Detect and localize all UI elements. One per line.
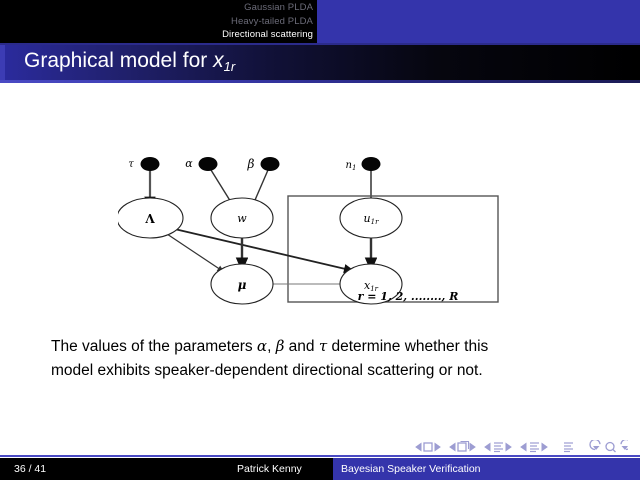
tau-dot-node xyxy=(141,157,160,171)
title-bar: Graphical model for x1r xyxy=(0,45,640,80)
title-bar-edge xyxy=(0,45,5,80)
graphical-model-svg: τ α β n1 Λ w u1r μ x1r xyxy=(118,143,518,318)
prev-slide-icon xyxy=(416,444,421,451)
beamer-navigation-symbols[interactable] xyxy=(412,440,628,454)
nav-item-directional-scattering[interactable]: Directional scattering xyxy=(0,28,313,42)
body-line2: model exhibits speaker-dependent directi… xyxy=(51,362,483,379)
slide-icon xyxy=(424,443,432,451)
prev-section-icon xyxy=(521,444,526,451)
prev-subsection-icon xyxy=(485,444,490,451)
page-title: Graphical model for x1r xyxy=(24,49,235,73)
next-subsection-icon xyxy=(506,444,511,451)
page-title-subscript: 1r xyxy=(224,59,236,74)
tau-label: τ xyxy=(128,159,134,170)
section-icon xyxy=(530,443,539,452)
beta-dot-node xyxy=(261,157,280,171)
nav-item-list: Gaussian PLDA Heavy-tailed PLDA Directio… xyxy=(0,1,313,42)
body-tau-symbol: τ xyxy=(319,337,327,355)
nav-item-gaussian-plda[interactable]: Gaussian PLDA xyxy=(0,1,313,15)
search-icon-handle xyxy=(613,449,616,452)
body-line1-part-c: determine whether this xyxy=(327,338,488,355)
navigation-symbols-svg[interactable] xyxy=(412,440,628,454)
body-paragraph: The values of the parameters α, β and τ … xyxy=(51,334,596,383)
next-frame-icon xyxy=(470,444,475,451)
page-title-text: Graphical model for xyxy=(24,49,213,72)
graphical-model-figure: τ α β n1 Λ w u1r μ x1r xyxy=(118,143,518,318)
top-navigation-bar: Gaussian PLDA Heavy-tailed PLDA Directio… xyxy=(0,0,640,44)
w-node-label: w xyxy=(237,212,247,225)
prev-frame-icon xyxy=(450,444,455,451)
beta-label: β xyxy=(247,157,255,171)
alpha-label: α xyxy=(185,157,193,170)
footer-page-number: 36 / 41 xyxy=(14,463,46,475)
frame-icon xyxy=(458,443,466,451)
nav-item-heavy-tailed-plda[interactable]: Heavy-tailed PLDA xyxy=(0,15,313,29)
slide-root: Gaussian PLDA Heavy-tailed PLDA Directio… xyxy=(0,0,640,480)
doc-icon xyxy=(564,443,573,452)
page-title-variable: x xyxy=(213,49,224,72)
lambda-node-label: Λ xyxy=(144,212,155,226)
mu-node-label: μ xyxy=(238,278,247,292)
footer-top-rule xyxy=(0,455,640,457)
footer-author: Patrick Kenny xyxy=(237,463,302,475)
plate-label: r = 1, 2, ........, R xyxy=(358,290,459,303)
footer-presentation-title: Bayesian Speaker Verification xyxy=(341,463,481,475)
body-alpha-symbol: α xyxy=(257,337,267,355)
n1-label: n1 xyxy=(346,160,357,172)
subsection-icon xyxy=(494,443,503,452)
next-slide-icon xyxy=(435,444,440,451)
next-section-icon xyxy=(542,444,547,451)
footer-bar: 36 / 41 Patrick Kenny Bayesian Speaker V… xyxy=(0,458,640,480)
n1-dot-node xyxy=(362,157,381,171)
search-icon xyxy=(606,443,614,451)
alpha-dot-node xyxy=(199,157,218,171)
body-line1-part-a: The values of the parameters xyxy=(51,338,257,355)
body-comma: , xyxy=(267,338,276,355)
body-line1-part-b: and xyxy=(284,338,318,355)
title-bar-bottom-rule xyxy=(0,80,640,83)
